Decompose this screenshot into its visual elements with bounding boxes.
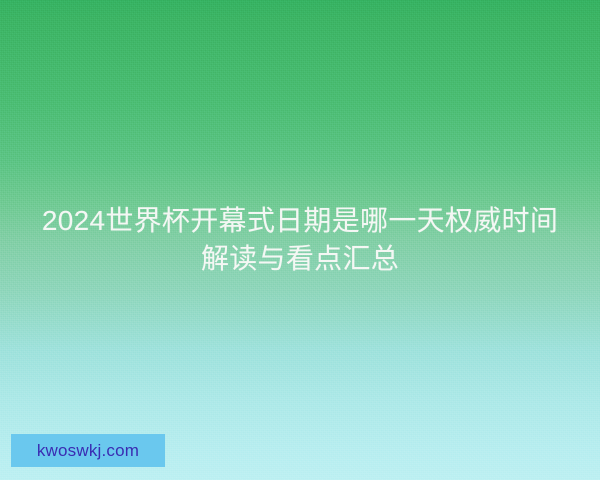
banner-canvas: 2024世界杯开幕式日期是哪一天权威时间解读与看点汇总 kwoswkj.com (0, 0, 600, 480)
watermark-badge: kwoswkj.com (11, 434, 165, 467)
banner-title: 2024世界杯开幕式日期是哪一天权威时间解读与看点汇总 (40, 202, 560, 278)
watermark-site-label: kwoswkj.com (37, 442, 139, 459)
